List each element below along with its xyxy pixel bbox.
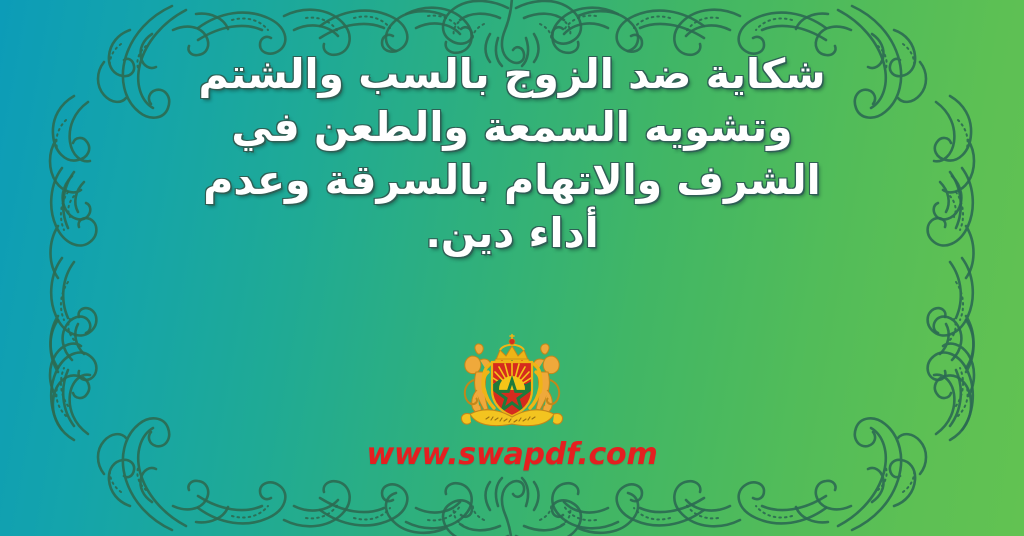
headline-line-4: أداء دين. (120, 207, 904, 260)
coat-of-arms-of-morocco-icon (456, 332, 568, 436)
frame-corner-bottom-right (796, 317, 974, 530)
lion-right (534, 344, 559, 413)
frame-corner-bottom-left (50, 317, 228, 530)
royal-crown (495, 335, 529, 364)
poster-canvas: شكاية ضد الزوج بالسب والشتم وتشويه السمع… (0, 0, 1024, 536)
headline-text: شكاية ضد الزوج بالسب والشتم وتشويه السمع… (120, 48, 904, 260)
frame-bottom-edge (198, 481, 826, 528)
frame-bottom-crest (386, 478, 638, 536)
headline-line-2: وتشويه السمعة والطعن في (120, 101, 904, 154)
headline-line-1: شكاية ضد الزوج بالسب والشتم (120, 48, 904, 101)
website-url: www.swapdf.com (0, 437, 1024, 472)
headline-line-3: الشرف والاتهام بالسرقة وعدم (120, 154, 904, 207)
frame-left-edge (51, 168, 97, 430)
frame-right-edge (928, 168, 974, 430)
lion-left (465, 344, 490, 413)
shield (492, 362, 532, 416)
